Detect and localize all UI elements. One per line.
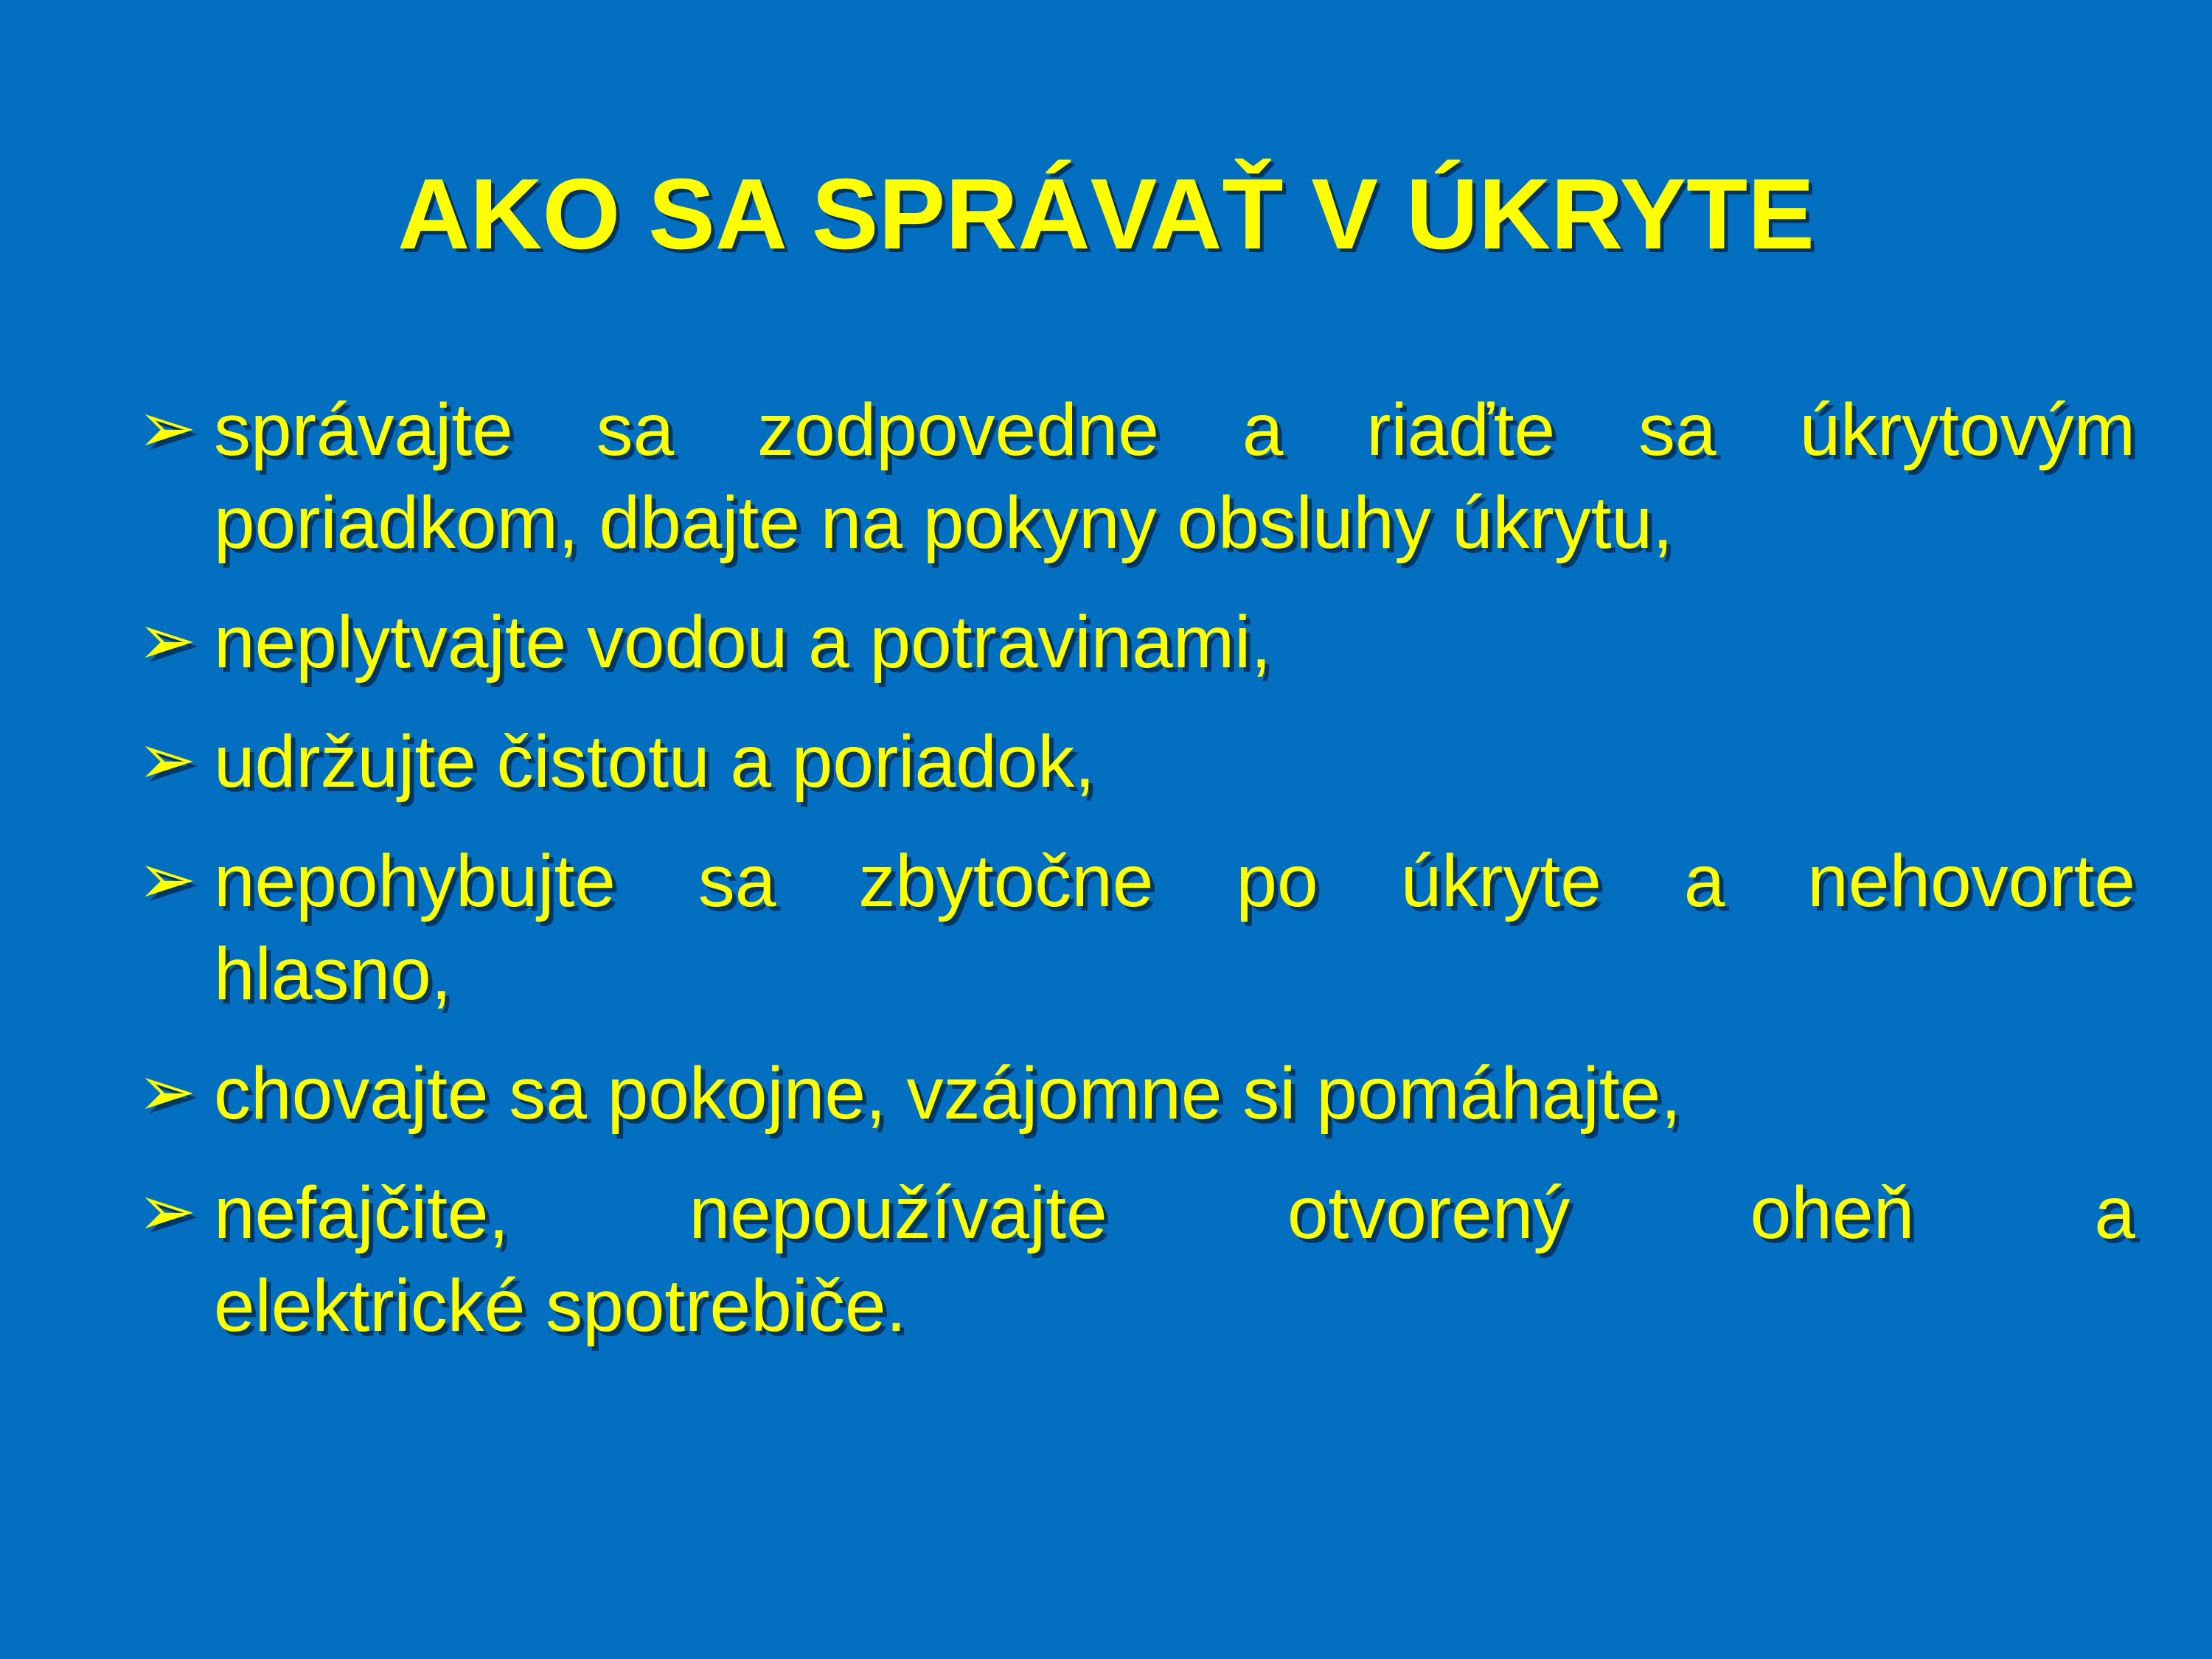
list-item-line: chovajte sa pokojne, vzájomne si pomáhaj… [214, 1047, 2135, 1140]
presentation-slide: AKO SA SPRÁVAŤ V ÚKRYTE ➢ správajte sa z… [0, 0, 2212, 1659]
list-item-text: správajte sa zodpovedne a riaďte sa úkry… [214, 383, 2135, 569]
arrow-bullet-icon: ➢ [137, 383, 214, 473]
list-item-line: elektrické spotrebiče. [214, 1259, 2135, 1352]
list-item-line: poriadkom, dbajte na pokyny obsluhy úkry… [214, 476, 2135, 569]
list-item: ➢ udržujte čistotu a poriadok, [137, 715, 2135, 808]
arrow-bullet-icon: ➢ [137, 1047, 214, 1136]
list-item-line: neplytvajte vodou a potravinami, [214, 596, 2135, 689]
list-item-line: udržujte čistotu a poriadok, [214, 715, 2135, 808]
list-item-line: nepohybujte sa zbytočne po úkryte a neho… [214, 835, 2135, 928]
arrow-bullet-icon: ➢ [137, 1166, 214, 1256]
list-item-line: hlasno, [214, 928, 2135, 1020]
list-item: ➢ neplytvajte vodou a potravinami, [137, 596, 2135, 689]
list-item-line: nefajčite, nepoužívajte otvorený oheň a [214, 1166, 2135, 1259]
arrow-bullet-icon: ➢ [137, 715, 214, 804]
list-item: ➢ správajte sa zodpovedne a riaďte sa úk… [137, 383, 2135, 569]
list-item: ➢ nepohybujte sa zbytočne po úkryte a ne… [137, 835, 2135, 1020]
list-item-text: nepohybujte sa zbytočne po úkryte a neho… [214, 835, 2135, 1020]
list-item-text: udržujte čistotu a poriadok, [214, 715, 2135, 808]
arrow-bullet-icon: ➢ [137, 835, 214, 924]
list-item-text: chovajte sa pokojne, vzájomne si pomáhaj… [214, 1047, 2135, 1140]
list-item-line: správajte sa zodpovedne a riaďte sa úkry… [214, 383, 2135, 476]
bullet-list: ➢ správajte sa zodpovedne a riaďte sa úk… [137, 383, 2135, 1379]
list-item-text: neplytvajte vodou a potravinami, [214, 596, 2135, 689]
page-title: AKO SA SPRÁVAŤ V ÚKRYTE [0, 164, 2212, 264]
arrow-bullet-icon: ➢ [137, 596, 214, 685]
list-item: ➢ nefajčite, nepoužívajte otvorený oheň … [137, 1166, 2135, 1352]
list-item: ➢ chovajte sa pokojne, vzájomne si pomáh… [137, 1047, 2135, 1140]
list-item-text: nefajčite, nepoužívajte otvorený oheň a … [214, 1166, 2135, 1352]
